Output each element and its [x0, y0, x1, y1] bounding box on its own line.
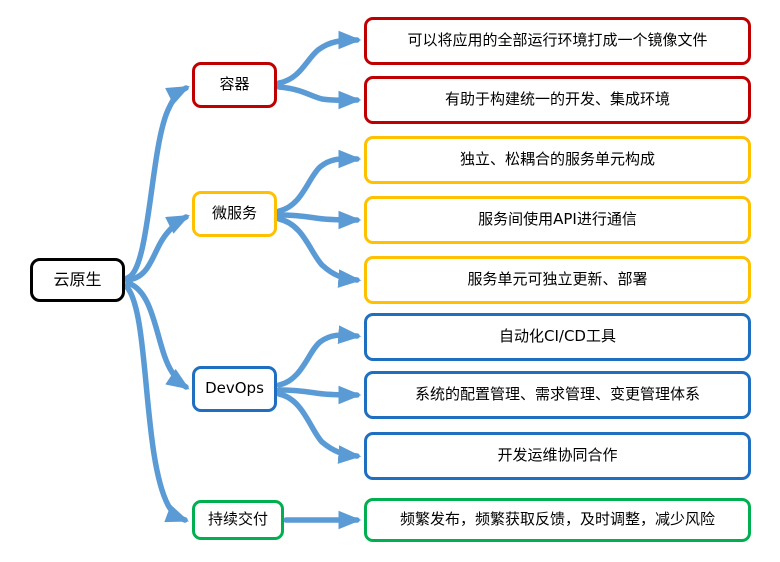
- node-leaf-container-1[interactable]: 可以将应用的全部运行环境打成一个镜像文件: [364, 17, 751, 65]
- node-leaf-devops-3[interactable]: 开发运维协同合作: [364, 432, 751, 480]
- node-leaf-delivery-1[interactable]: 频繁发布，频繁获取反馈，及时调整，减少风险: [364, 498, 751, 542]
- node-root[interactable]: 云原生: [30, 258, 125, 302]
- node-leaf-devops-3-label: 开发运维协同合作: [497, 447, 617, 464]
- node-branch-container-label: 容器: [219, 76, 249, 93]
- edge-microservice-leaf-3: [279, 219, 357, 280]
- node-leaf-container-2[interactable]: 有助于构建统一的开发、集成环境: [364, 76, 751, 124]
- node-leaf-container-1-label: 可以将应用的全部运行环境打成一个镜像文件: [407, 32, 707, 49]
- node-branch-devops[interactable]: DevOps: [192, 366, 277, 412]
- edge-container-leaf-1: [279, 40, 357, 83]
- node-leaf-microservice-1[interactable]: 独立、松耦合的服务单元构成: [364, 136, 751, 184]
- node-leaf-devops-2-label: 系统的配置管理、需求管理、变更管理体系: [415, 386, 700, 403]
- node-leaf-microservice-3[interactable]: 服务单元可独立更新、部署: [364, 256, 751, 304]
- node-leaf-container-2-label: 有助于构建统一的开发、集成环境: [445, 91, 670, 108]
- node-leaf-delivery-1-label: 频繁发布，频繁获取反馈，及时调整，减少风险: [400, 511, 715, 528]
- node-leaf-devops-2[interactable]: 系统的配置管理、需求管理、变更管理体系: [364, 371, 751, 419]
- edge-devops-leaf-3: [279, 394, 357, 456]
- edge-root-microservice: [127, 217, 186, 280]
- node-leaf-microservice-2-label: 服务间使用API进行通信: [478, 211, 637, 228]
- edge-root-container: [127, 88, 186, 278]
- node-leaf-devops-1-label: 自动化CI/CD工具: [499, 328, 616, 345]
- node-branch-delivery[interactable]: 持续交付: [192, 500, 284, 540]
- node-leaf-microservice-2[interactable]: 服务间使用API进行通信: [364, 196, 751, 244]
- edge-microservice-leaf-1: [279, 159, 357, 211]
- node-leaf-devops-1[interactable]: 自动化CI/CD工具: [364, 313, 751, 361]
- mindmap-canvas: 云原生 容器 可以将应用的全部运行环境打成一个镜像文件 有助于构建统一的开发、集…: [0, 0, 780, 562]
- edge-microservice-leaf-2: [279, 215, 357, 220]
- node-branch-microservice-label: 微服务: [212, 205, 257, 222]
- node-branch-delivery-label: 持续交付: [208, 511, 268, 528]
- node-root-label: 云原生: [53, 271, 101, 289]
- node-branch-microservice[interactable]: 微服务: [192, 191, 277, 237]
- edge-devops-leaf-2: [279, 390, 357, 395]
- node-leaf-microservice-1-label: 独立、松耦合的服务单元构成: [460, 151, 655, 168]
- node-leaf-microservice-3-label: 服务单元可独立更新、部署: [467, 271, 647, 288]
- edge-root-delivery: [126, 286, 185, 520]
- edge-devops-leaf-1: [279, 335, 357, 385]
- node-branch-devops-label: DevOps: [205, 380, 264, 397]
- edge-root-devops: [128, 283, 186, 387]
- node-branch-container[interactable]: 容器: [192, 62, 277, 108]
- edge-container-leaf-2: [279, 87, 357, 100]
